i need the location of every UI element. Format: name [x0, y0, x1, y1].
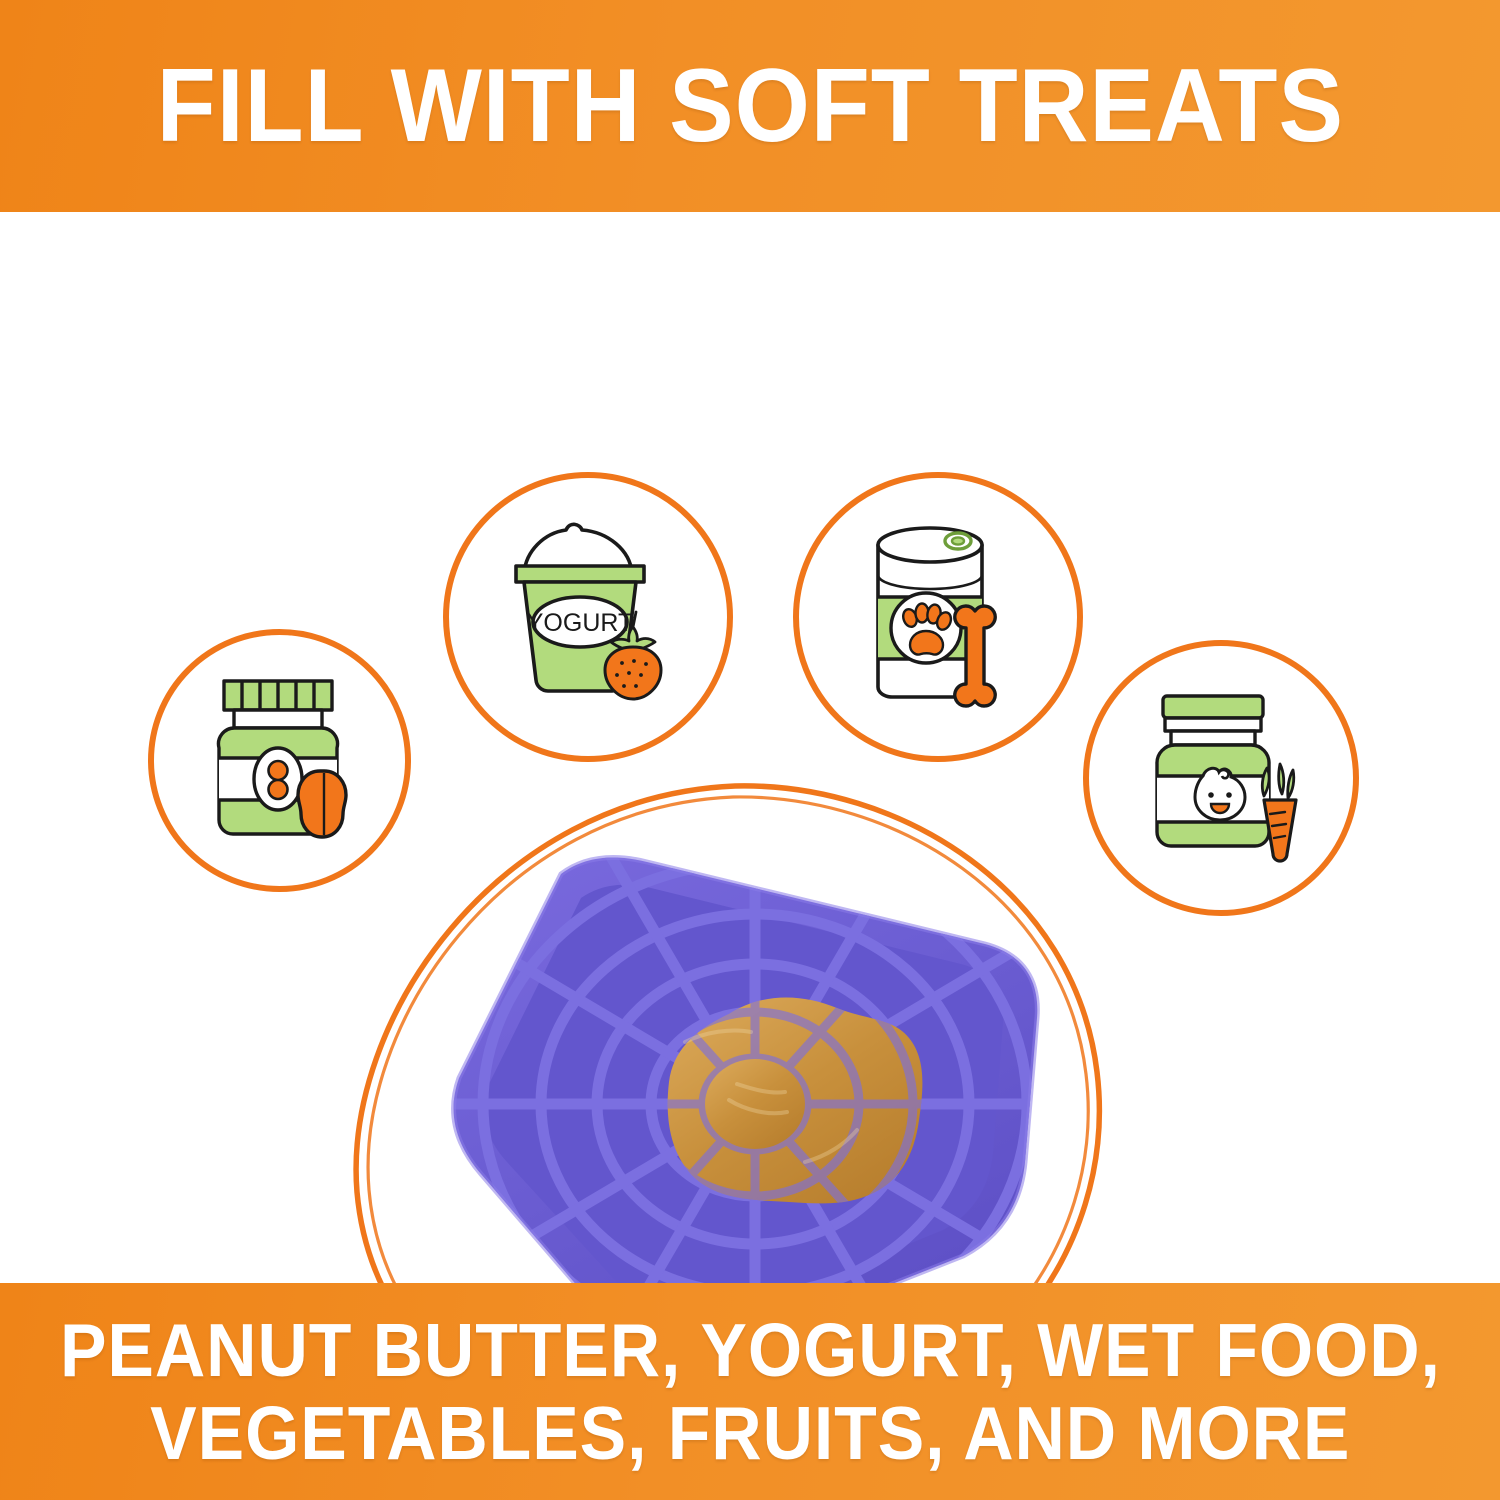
bottom-banner-line-1: PEANUT BUTTER, YOGURT, WET FOOD,: [60, 1312, 1441, 1389]
infographic-page: FILL WITH SOFT TREATS: [0, 0, 1500, 1500]
top-banner: FILL WITH SOFT TREATS: [0, 0, 1500, 212]
peanut-butter-center: [705, 1059, 805, 1149]
content-area: YOGURT: [0, 212, 1500, 1283]
baby-food-jar-icon: [1107, 664, 1335, 892]
bottom-banner: PEANUT BUTTER, YOGURT, WET FOOD, VEGETAB…: [0, 1283, 1500, 1500]
yogurt-label-text: YOGURT: [527, 609, 634, 637]
badge-wet-food: [793, 472, 1083, 762]
carrot-icon: [1262, 764, 1296, 861]
can-pull-tab-icon: [945, 533, 971, 549]
badge-yogurt: YOGURT: [443, 472, 733, 762]
wet-food-can-icon: [818, 497, 1058, 737]
headline-text: FILL WITH SOFT TREATS: [156, 53, 1343, 159]
bottom-banner-line-2: VEGETABLES, FRUITS, AND MORE: [150, 1395, 1350, 1472]
yogurt-tub-icon: YOGURT: [468, 497, 708, 737]
badge-baby-food: [1083, 640, 1359, 916]
